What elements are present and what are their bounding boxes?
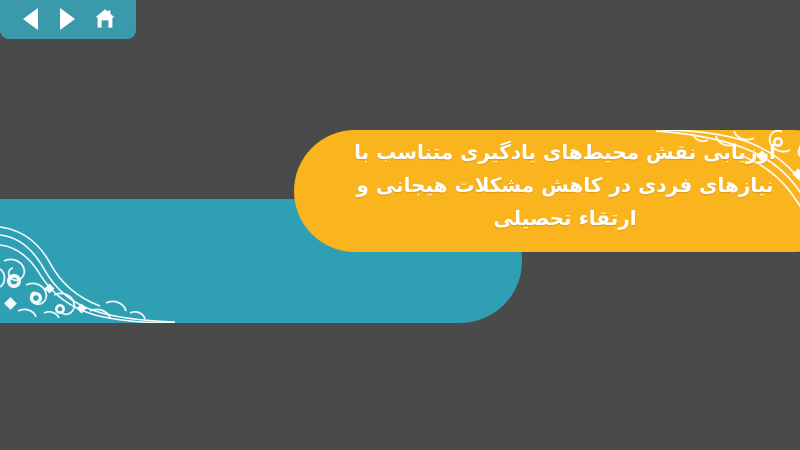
orange-arabesque-ornament-icon	[644, 130, 800, 252]
back-arrow-icon	[23, 8, 38, 30]
teal-arabesque-ornament-icon	[0, 199, 175, 323]
home-button[interactable]	[92, 6, 118, 32]
orange-title-banner-shape	[294, 130, 800, 252]
back-button[interactable]	[18, 6, 44, 32]
navigation-bar	[0, 0, 136, 39]
forward-button[interactable]	[55, 6, 81, 32]
home-icon	[93, 7, 117, 31]
forward-arrow-icon	[60, 8, 75, 30]
